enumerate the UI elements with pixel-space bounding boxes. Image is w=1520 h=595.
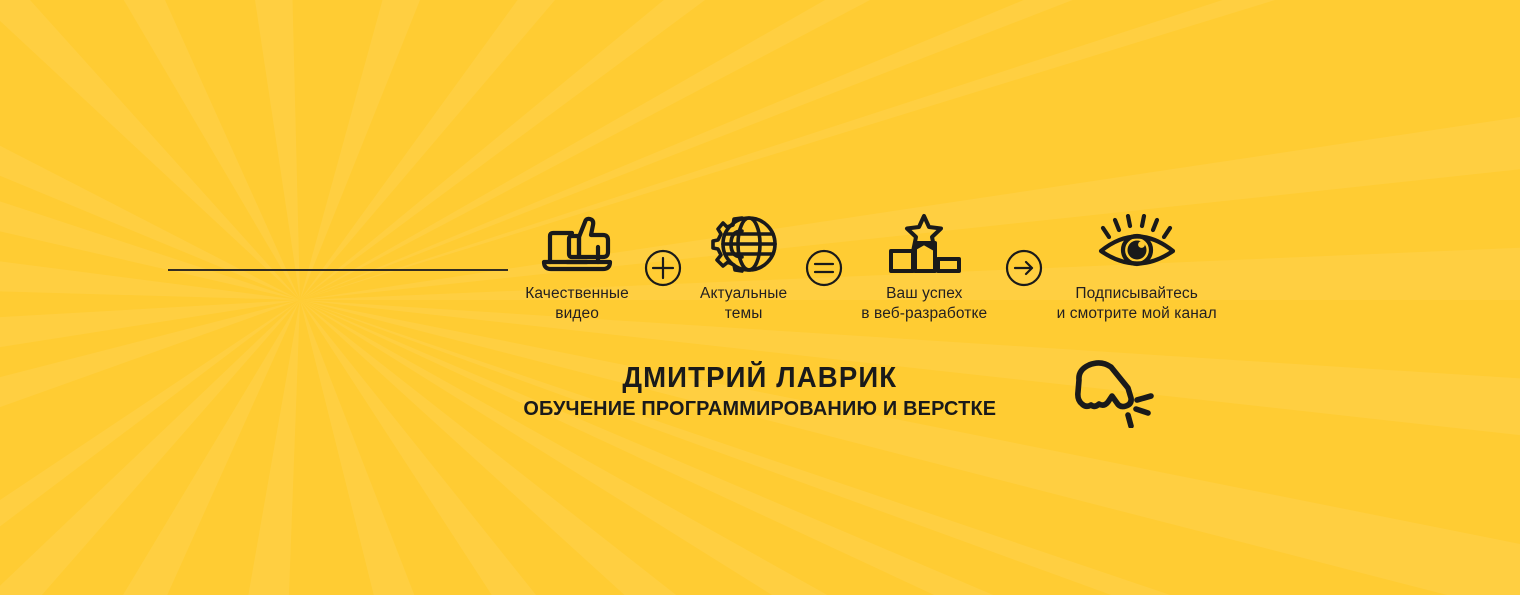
- page-title: ДМИТРИЙ ЛАВРИК: [528, 362, 991, 394]
- pointing-hand-click-icon: [1068, 358, 1160, 428]
- feature-label: Подписывайтесь и смотрите мой канал: [1057, 284, 1217, 324]
- circled-arrow-right-icon: [1004, 248, 1044, 288]
- circled-equals-icon: [804, 248, 844, 288]
- feature-strip: Качественные видео: [520, 212, 1220, 352]
- brand-block: ДМИТРИЙ ЛАВРИК ОБУЧЕНИЕ ПРОГРАММИРОВАНИЮ…: [0, 362, 1520, 421]
- feature-relevant-topics[interactable]: Актуальные темы: [692, 212, 795, 324]
- circled-plus-icon: [643, 248, 683, 288]
- youtube-channel-banner: Качественные видео: [0, 0, 1520, 595]
- feature-label: Ваш успех в веб-разработке: [861, 284, 987, 324]
- operator-equals: [795, 236, 853, 300]
- podium-star-icon: [885, 212, 963, 276]
- page-subtitle: ОБУЧЕНИЕ ПРОГРАММИРОВАНИЮ И ВЕРСТКЕ: [524, 396, 997, 421]
- operator-arrow: [995, 236, 1053, 300]
- horizontal-rule: [168, 269, 508, 271]
- operator-plus: [634, 236, 692, 300]
- laptop-thumbs-up-icon: [541, 212, 613, 276]
- feature-label: Качественные видео: [525, 284, 629, 324]
- feature-label: Актуальные темы: [700, 284, 787, 324]
- eye-icon: [1095, 212, 1179, 276]
- feature-your-success[interactable]: Ваш успех в веб-разработке: [853, 212, 995, 324]
- feature-subscribe[interactable]: Подписывайтесь и смотрите мой канал: [1053, 212, 1220, 324]
- gear-globe-icon: [711, 212, 777, 276]
- feature-quality-video[interactable]: Качественные видео: [520, 212, 634, 324]
